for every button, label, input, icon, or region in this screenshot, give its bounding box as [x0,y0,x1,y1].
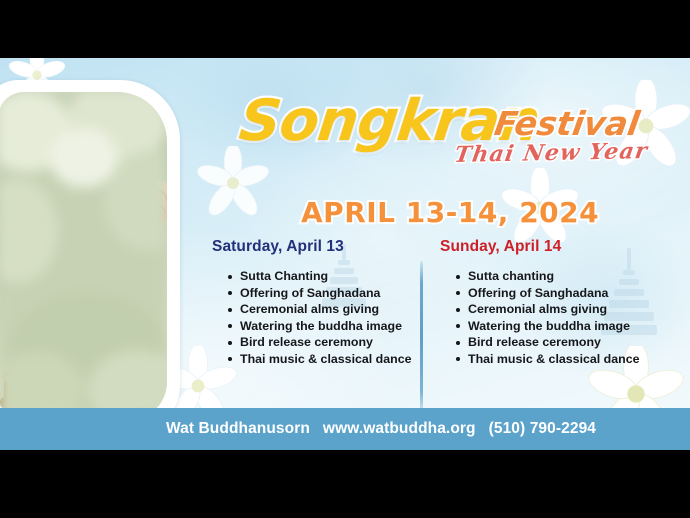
schedule-column-sunday: Sunday, April 14 Sutta chanting Offering… [440,238,655,368]
list-item: Thai music & classical dance [228,351,412,368]
poster-frame: Songkran Festival Thai New Year APRIL 13… [0,0,690,518]
poster-canvas: Songkran Festival Thai New Year APRIL 13… [0,58,690,450]
list-item: Bird release ceremony [228,334,412,351]
list-item: Offering of Sanghadana [228,285,412,302]
schedule-column-saturday: Saturday, April 13 Sutta Chanting Offeri… [212,238,412,368]
buddha-photo-card [0,80,180,432]
column-heading-sunday: Sunday, April 14 [440,238,655,256]
website-url[interactable]: www.watbuddha.org [323,420,476,438]
list-item: Bird release ceremony [456,334,655,351]
list-item: Offering of Sanghadana [456,285,655,302]
event-date: APRIL 13-14, 2024 [301,196,599,229]
letterbox-bar-top [0,0,690,58]
buddha-photo [0,92,167,420]
phone-number[interactable]: (510) 790-2294 [489,420,596,438]
contact-footer-bar: Wat Buddhanusorn www.watbuddha.org (510)… [0,408,690,450]
poster-subtitle: Thai New Year [453,138,650,168]
poster-title-festival: Festival [492,104,642,143]
list-item: Sutta chanting [456,268,655,285]
list-item: Ceremonial alms giving [456,301,655,318]
organization-name: Wat Buddhanusorn [166,420,310,438]
letterbox-bar-bottom [0,450,690,518]
list-item: Watering the buddha image [456,318,655,335]
contact-footer-content: Wat Buddhanusorn www.watbuddha.org (510)… [0,408,690,450]
schedule-list-saturday: Sutta Chanting Offering of Sanghadana Ce… [212,268,412,368]
list-item: Sutta Chanting [228,268,412,285]
flower-icon-upper-left [196,146,270,220]
list-item: Watering the buddha image [228,318,412,335]
schedule-list-sunday: Sutta chanting Offering of Sanghadana Ce… [440,268,655,368]
column-heading-saturday: Saturday, April 13 [212,238,412,256]
column-divider [420,261,423,413]
list-item: Thai music & classical dance [456,351,655,368]
photo-background-bokeh [0,92,167,420]
list-item: Ceremonial alms giving [228,301,412,318]
